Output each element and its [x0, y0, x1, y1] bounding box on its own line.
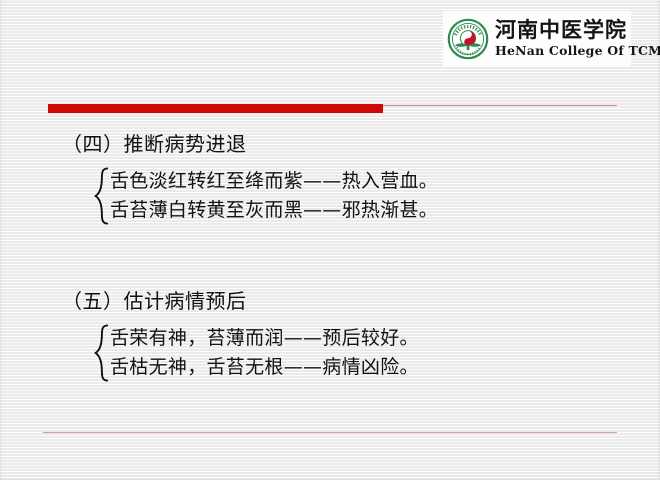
taiji-circle-emblem-icon [447, 18, 489, 60]
left-curly-brace-icon [94, 324, 109, 382]
institution-name-en: HeNan College Of TCM [495, 45, 660, 58]
brace-line: 舌枯无神，舌苔无根——病情凶险。 [110, 353, 419, 382]
accent-bar [48, 104, 383, 113]
section-block: （五）估计病情预后 舌荣有神，苔薄而润——预后较好。 舌枯无神，舌苔无根——病情… [62, 285, 419, 382]
institution-name-group: 河南中医学院 HeNan College Of TCM [495, 20, 660, 58]
section-heading: （五）估计病情预后 [62, 285, 419, 314]
institution-name-cn: 河南中医学院 [495, 20, 660, 41]
brace-line: 舌色淡红转红至绛而紫——热入营血。 [110, 167, 438, 196]
institution-logo-block: 河南中医学院 HeNan College Of TCM [443, 11, 631, 66]
slide-canvas: 河南中医学院 HeNan College Of TCM （四）推断病势进退 舌色… [0, 0, 660, 480]
section-heading: （四）推断病势进退 [62, 128, 438, 157]
brace-line-list: 舌色淡红转红至绛而紫——热入营血。 舌苔薄白转黄至灰而黑——邪热渐甚。 [110, 167, 438, 225]
brace-line-list: 舌荣有神，苔薄而润——预后较好。 舌枯无神，舌苔无根——病情凶险。 [110, 324, 419, 382]
brace-line: 舌荣有神，苔薄而润——预后较好。 [110, 324, 419, 353]
brace-group: 舌色淡红转红至绛而紫——热入营血。 舌苔薄白转黄至灰而黑——邪热渐甚。 [94, 167, 438, 225]
left-curly-brace-icon [94, 167, 109, 225]
section-block: （四）推断病势进退 舌色淡红转红至绛而紫——热入营血。 舌苔薄白转黄至灰而黑——… [62, 128, 438, 225]
footer-divider [43, 432, 617, 433]
brace-line: 舌苔薄白转黄至灰而黑——邪热渐甚。 [110, 196, 438, 225]
brace-group: 舌荣有神，苔薄而润——预后较好。 舌枯无神，舌苔无根——病情凶险。 [94, 324, 419, 382]
